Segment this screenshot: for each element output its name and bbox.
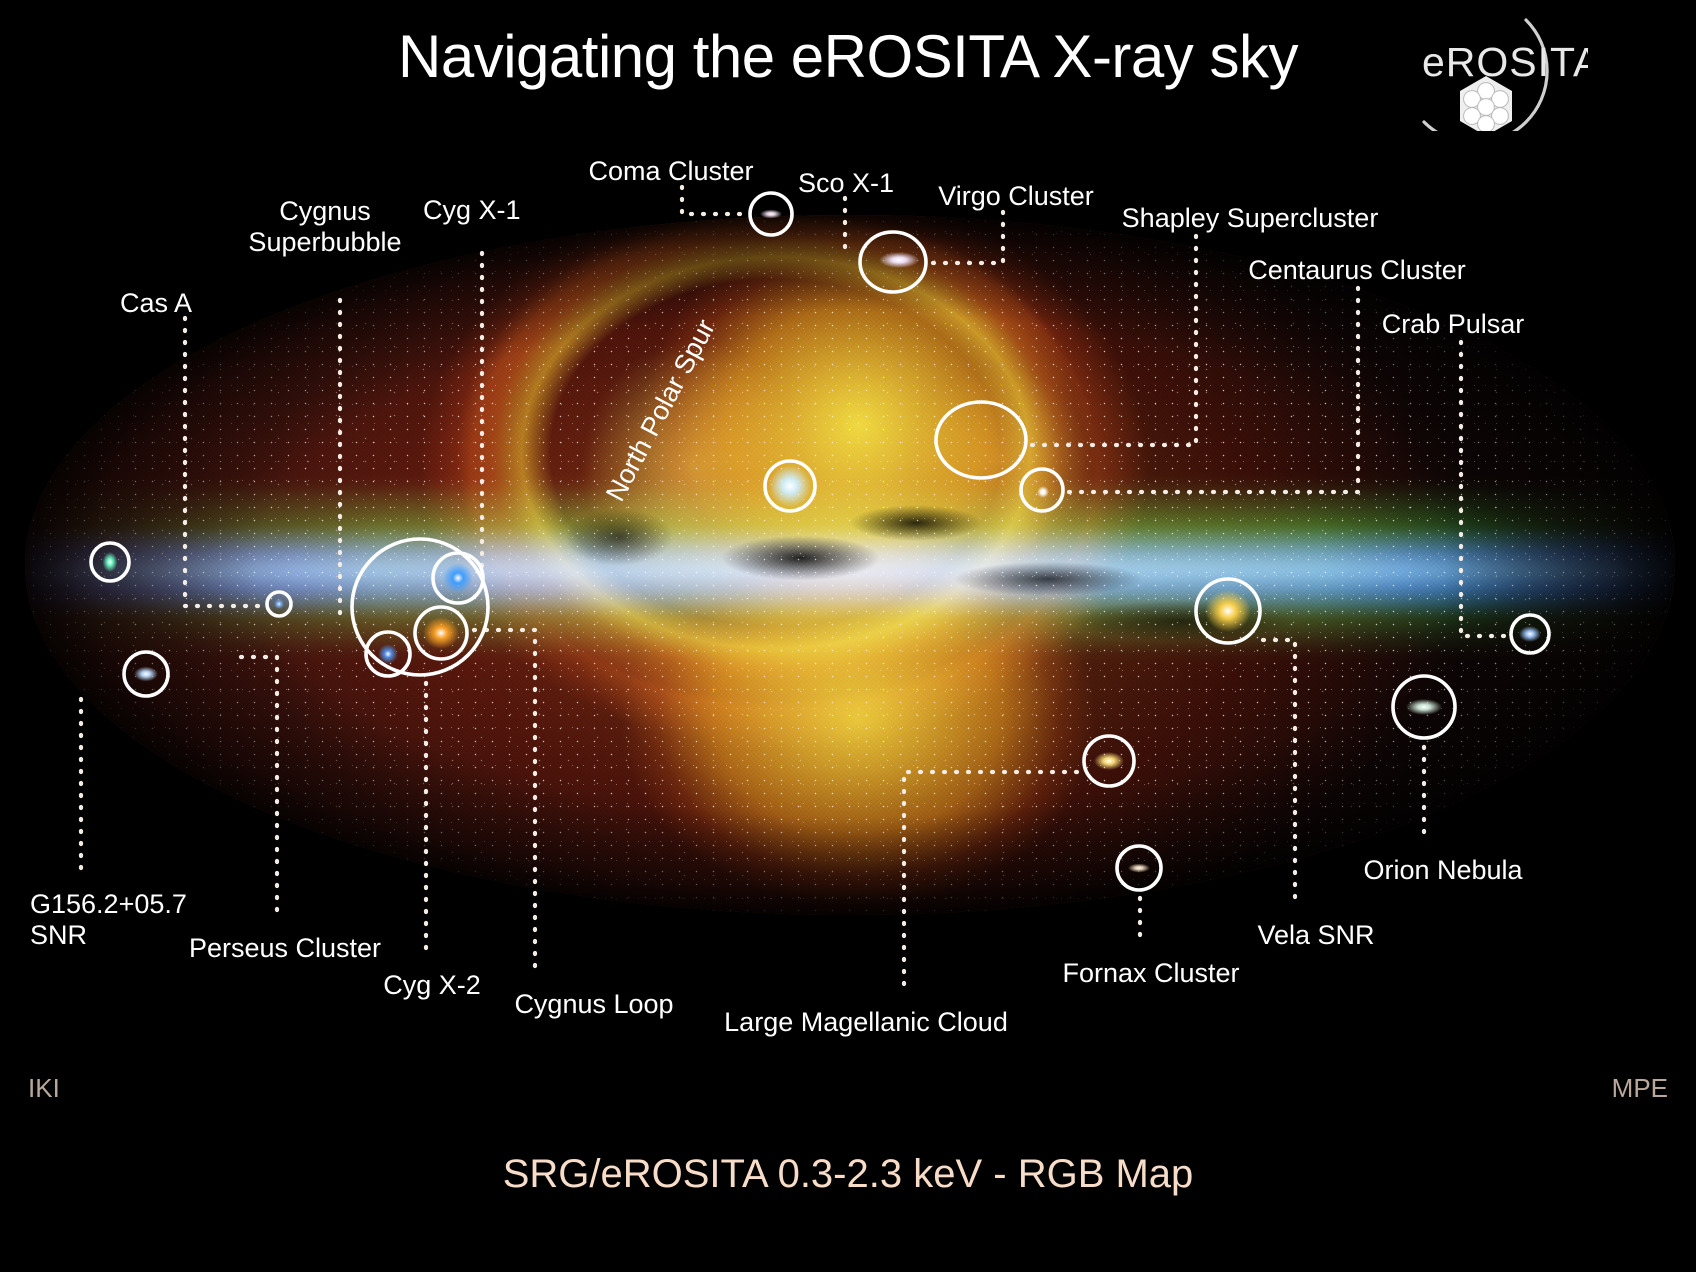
logo-wordmark: eROSITA	[1422, 39, 1588, 85]
label-centaurus-cluster: Centaurus Cluster	[1248, 255, 1466, 286]
label-crab-pulsar: Crab Pulsar	[1382, 309, 1525, 340]
label-cyg-x-1: Cyg X-1	[423, 195, 521, 226]
credit-iki: IKI	[28, 1073, 60, 1104]
label-shapley-supercluster: Shapley Supercluster	[1122, 203, 1379, 234]
label-virgo-cluster: Virgo Cluster	[938, 181, 1094, 212]
map-caption: SRG/eROSITA 0.3-2.3 keV - RGB Map	[0, 1152, 1696, 1197]
credit-mpe: MPE	[1612, 1073, 1668, 1104]
label-vela-snr: Vela SNR	[1257, 920, 1374, 951]
label-cas-a: Cas A	[120, 288, 192, 319]
leader-line-coma-cluster	[682, 187, 749, 214]
label-large-magellanic-cloud: Large Magellanic Cloud	[724, 1007, 1008, 1038]
label-orion-nebula: Orion Nebula	[1363, 855, 1522, 886]
label-g156-snr: G156.2+05.7 SNR	[30, 889, 187, 951]
label-fornax-cluster: Fornax Cluster	[1062, 958, 1239, 989]
label-coma-cluster: Coma Cluster	[588, 156, 753, 187]
label-cyg-x-2: Cyg X-2	[383, 970, 481, 1001]
label-cygnus-superbubble: Cygnus Superbubble	[248, 196, 401, 258]
label-sco-x-1: Sco X-1	[798, 168, 894, 199]
erosita-sky-poster: Navigating the eROSITA X-ray sky eROSITA	[0, 0, 1696, 1272]
erosita-logo: eROSITA	[1408, 6, 1588, 131]
label-perseus-cluster: Perseus Cluster	[189, 933, 381, 964]
label-cygnus-loop: Cygnus Loop	[514, 989, 673, 1020]
